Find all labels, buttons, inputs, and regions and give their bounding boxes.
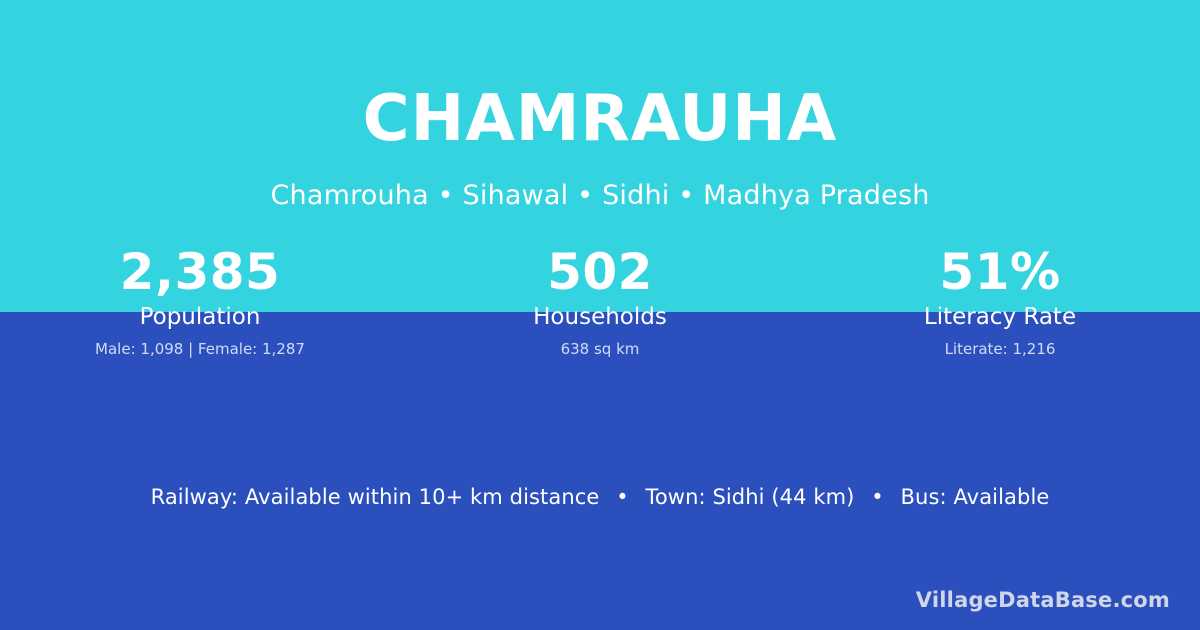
page-title: CHAMRAUHA xyxy=(0,86,1200,153)
stat-households: 502 Households 638 sq km xyxy=(400,246,800,358)
site-brand: VillageDataBase.com xyxy=(916,588,1170,612)
stat-literacy-value: 51% xyxy=(800,246,1200,299)
transport-info: Railway: Available within 10+ km distanc… xyxy=(0,485,1200,509)
stat-population-value: 2,385 xyxy=(0,246,400,299)
stat-households-label: Households xyxy=(400,305,800,330)
breadcrumb: Chamrouha • Sihawal • Sidhi • Madhya Pra… xyxy=(0,180,1200,211)
transport-separator-2: • xyxy=(861,485,894,509)
stats-row: 2,385 Population Male: 1,098 | Female: 1… xyxy=(0,246,1200,358)
stat-literacy-sub: Literate: 1,216 xyxy=(800,340,1200,358)
stat-population-sub: Male: 1,098 | Female: 1,287 xyxy=(0,340,400,358)
stat-literacy-label: Literacy Rate xyxy=(800,305,1200,330)
transport-bus: Bus: Available xyxy=(901,485,1050,509)
stat-population: 2,385 Population Male: 1,098 | Female: 1… xyxy=(0,246,400,358)
village-info-card: CHAMRAUHA Chamrouha • Sihawal • Sidhi • … xyxy=(0,0,1200,630)
transport-railway: Railway: Available within 10+ km distanc… xyxy=(151,485,600,509)
transport-town: Town: Sidhi (44 km) xyxy=(646,485,855,509)
transport-separator-1: • xyxy=(606,485,639,509)
stat-households-sub: 638 sq km xyxy=(400,340,800,358)
stat-households-value: 502 xyxy=(400,246,800,299)
stat-population-label: Population xyxy=(0,305,400,330)
stat-literacy: 51% Literacy Rate Literate: 1,216 xyxy=(800,246,1200,358)
